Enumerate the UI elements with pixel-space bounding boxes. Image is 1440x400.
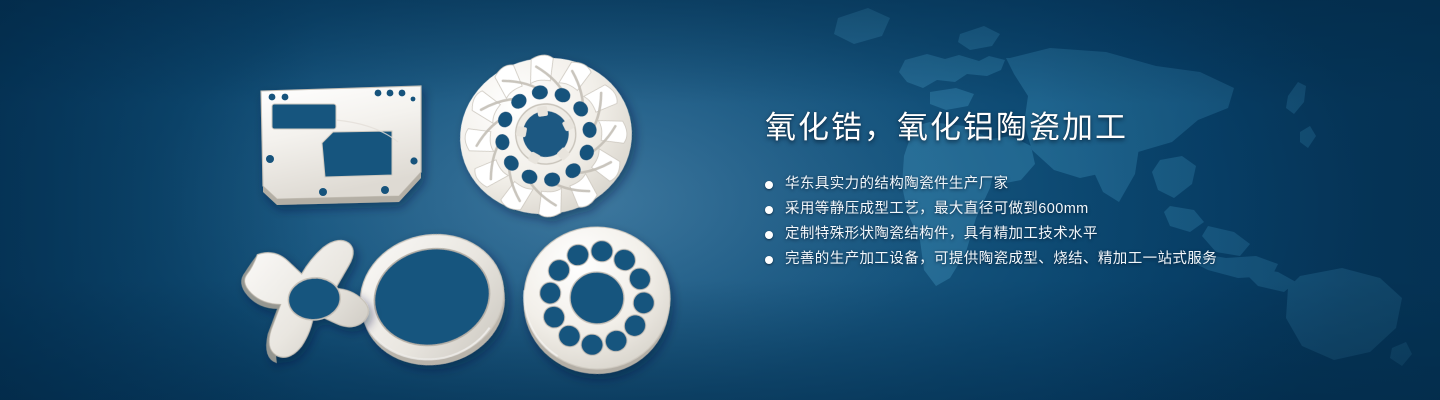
bullet-dot-icon	[765, 181, 773, 189]
bullet-dot-icon	[765, 231, 773, 239]
ceramic-cross-plate	[238, 238, 373, 366]
bullet-dot-icon	[765, 256, 773, 264]
feature-list: 华东具实力的结构陶瓷件生产厂家 采用等静压成型工艺，最大直径可做到600mm 定…	[765, 172, 1385, 272]
list-item: 完善的生产加工设备，可提供陶瓷成型、烧结、精加工一站式服务	[765, 247, 1385, 272]
product-image-cluster	[0, 0, 720, 400]
list-item-label: 完善的生产加工设备，可提供陶瓷成型、烧结、精加工一站式服务	[785, 247, 1217, 272]
list-item: 定制特殊形状陶瓷结构件，具有精加工技术水平	[765, 222, 1385, 247]
list-item: 华东具实力的结构陶瓷件生产厂家	[765, 172, 1385, 197]
list-item-label: 采用等静压成型工艺，最大直径可做到600mm	[785, 197, 1089, 222]
ceramic-ring	[349, 221, 517, 378]
banner-copy: 氧化锆，氧化铝陶瓷加工 华东具实力的结构陶瓷件生产厂家 采用等静压成型工艺，最大…	[765, 108, 1385, 288]
hero-banner: 氧化锆，氧化铝陶瓷加工 华东具实力的结构陶瓷件生产厂家 采用等静压成型工艺，最大…	[0, 0, 1440, 400]
list-item-label: 定制特殊形状陶瓷结构件，具有精加工技术水平	[785, 222, 1098, 247]
list-item: 采用等静压成型工艺，最大直径可做到600mm	[765, 197, 1385, 222]
ceramic-impeller-disc	[450, 44, 643, 228]
bullet-dot-icon	[765, 206, 773, 214]
ceramic-mounting-plate	[261, 86, 421, 205]
page-title: 氧化锆，氧化铝陶瓷加工	[765, 108, 1385, 148]
list-item-label: 华东具实力的结构陶瓷件生产厂家	[785, 172, 1009, 197]
ceramic-perforated-disc	[516, 220, 677, 381]
